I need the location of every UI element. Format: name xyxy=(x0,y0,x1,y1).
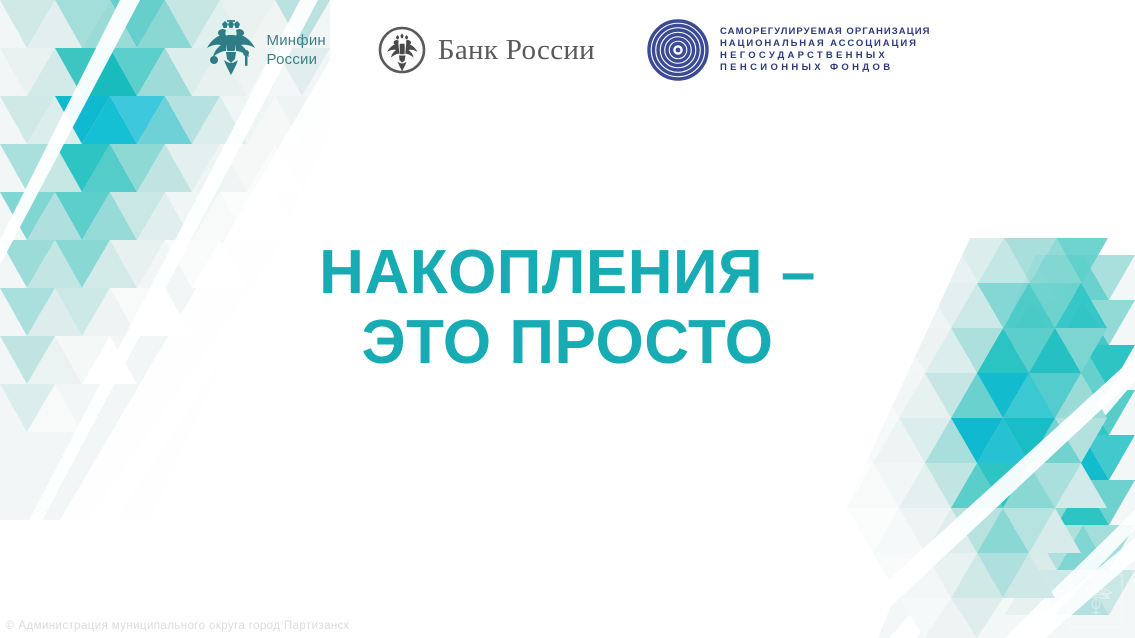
slide-title-line2: ЭТО ПРОСТО xyxy=(0,308,1135,378)
partizansk-coat-of-arms-watermark xyxy=(1067,572,1125,630)
logo-bank-of-russia-label: Банк России xyxy=(438,34,595,66)
spiral-concentric-circles-icon xyxy=(647,19,709,81)
logo-minfin-rossii: Минфин России xyxy=(205,19,326,81)
copyright-watermark: © Администрация муниципального округа го… xyxy=(6,620,349,632)
logo-napf-line2: НАЦИОНАЛЬНАЯ АССОЦИАЦИЯ xyxy=(720,39,930,49)
slide-title-line1: НАКОПЛЕНИЯ – xyxy=(0,238,1135,308)
logo-minfin-line1: Минфин xyxy=(267,31,326,50)
logo-bank-of-russia: Банк России xyxy=(378,26,595,74)
slide-title: НАКОПЛЕНИЯ – ЭТО ПРОСТО xyxy=(0,238,1135,378)
bank-of-russia-eagle-emblem-icon xyxy=(378,26,426,74)
logo-minfin-line2: России xyxy=(267,50,326,69)
logo-napf-line4: ПЕНСИОННЫХ ФОНДОВ xyxy=(720,63,930,73)
logo-napf-text: САМОРЕГУЛИРУЕМАЯ ОРГАНИЗАЦИЯ НАЦИОНАЛЬНА… xyxy=(720,27,930,73)
logo-bar: Минфин России xyxy=(0,0,1135,100)
russian-double-headed-eagle-icon xyxy=(205,19,257,81)
logo-napf: САМОРЕГУЛИРУЕМАЯ ОРГАНИЗАЦИЯ НАЦИОНАЛЬНА… xyxy=(647,19,930,81)
presentation-slide: Минфин России xyxy=(0,0,1135,638)
logo-napf-line1: САМОРЕГУЛИРУЕМАЯ ОРГАНИЗАЦИЯ xyxy=(720,27,930,37)
logo-napf-line3: НЕГОСУДАРСТВЕННЫХ xyxy=(720,51,930,61)
logo-minfin-text: Минфин России xyxy=(267,31,326,69)
